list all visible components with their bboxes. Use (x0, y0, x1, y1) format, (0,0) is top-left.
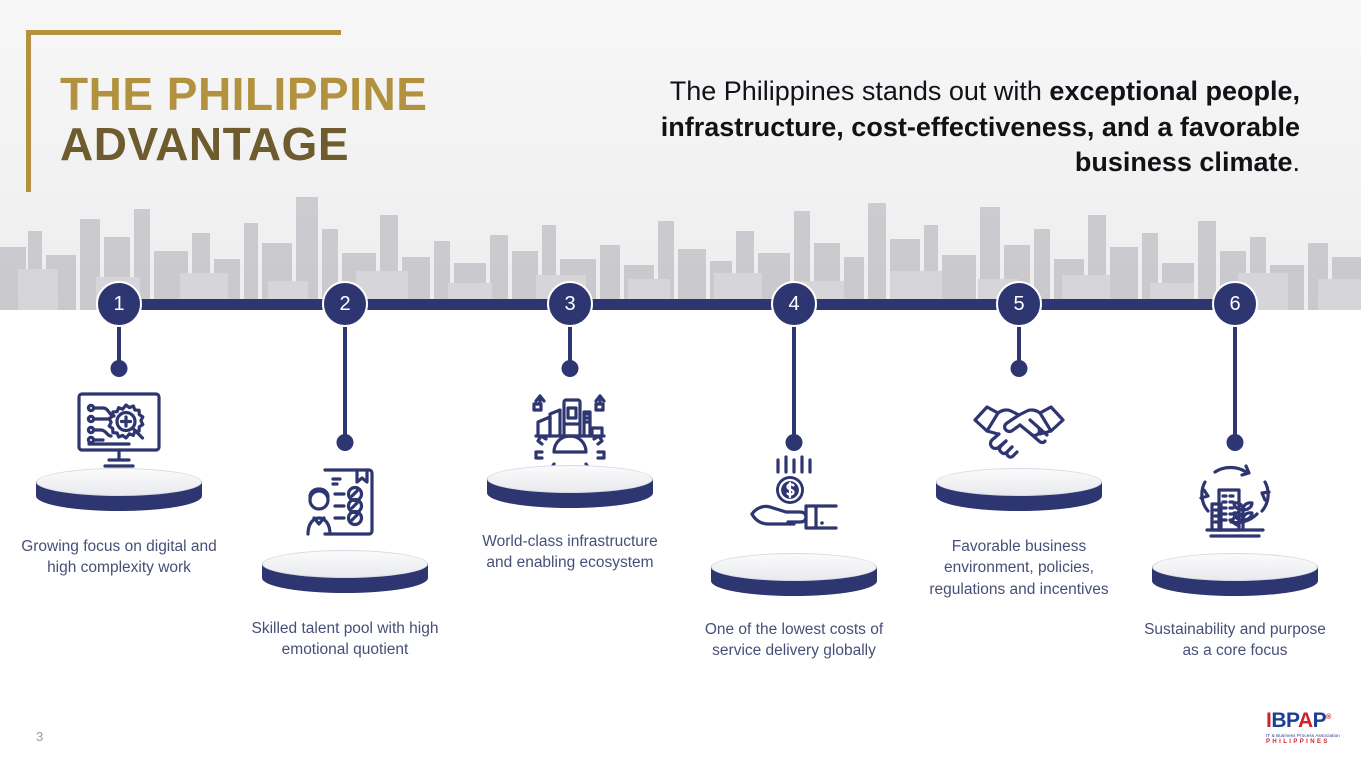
step-number-badge-1[interactable]: 1 (96, 281, 142, 327)
title-line-1: THE PHILIPPINE (60, 70, 580, 120)
registered-trademark-icon: ® (1326, 714, 1331, 721)
headline-lead: The Philippines stands out with (670, 76, 1050, 106)
headline-statement: The Philippines stands out with exceptio… (590, 74, 1300, 181)
step-number-label: 3 (564, 293, 575, 316)
pedestal-top (711, 553, 877, 581)
talent-checklist-icon (289, 452, 401, 552)
title-line-2: ADVANTAGE (60, 120, 580, 170)
ibpap-logo: IBPAP® IT & Business Process Association… (1266, 710, 1352, 746)
pedestal-top (936, 468, 1102, 496)
step-number-label: 1 (113, 293, 124, 316)
logo-letter-a: A (1298, 709, 1313, 732)
step-connector-dot (1011, 360, 1028, 377)
step-number-badge-2[interactable]: 2 (322, 281, 368, 327)
step-connector-line (568, 322, 572, 364)
step-pedestal (1152, 553, 1318, 609)
factory-gear-icon (514, 378, 626, 478)
step-number-badge-3[interactable]: 3 (547, 281, 593, 327)
step-number-badge-5[interactable]: 5 (996, 281, 1042, 327)
pedestal-top (262, 550, 428, 578)
step-connector-line (1233, 322, 1237, 438)
step-number-label: 5 (1013, 293, 1024, 316)
step-caption: Favorable business environment, policies… (919, 536, 1119, 600)
step-number-label: 2 (339, 293, 350, 316)
step-connector-line (792, 322, 796, 438)
logo-country: PHILIPPINES (1266, 739, 1352, 746)
pedestal-top (36, 468, 202, 496)
step-pedestal (936, 468, 1102, 524)
handshake-icon (963, 378, 1075, 478)
city-skyline-image (0, 185, 1361, 310)
page-title: THE PHILIPPINE ADVANTAGE (60, 70, 580, 169)
sustainability-building-icon (1179, 452, 1291, 552)
step-caption: World-class infrastructure and enabling … (470, 531, 670, 574)
step-connector-dot (562, 360, 579, 377)
computer-analytics-icon (63, 378, 175, 478)
headline-tail: . (1292, 147, 1300, 177)
step-pedestal (262, 550, 428, 606)
step-caption: Sustainability and purpose as a core foc… (1135, 619, 1335, 662)
step-caption: Skilled talent pool with high emotional … (245, 618, 445, 661)
pedestal-top (1152, 553, 1318, 581)
step-connector-line (117, 322, 121, 364)
logo-subtitle: IT & Business Process Association (1266, 733, 1352, 738)
step-connector-dot (1227, 434, 1244, 451)
step-number-badge-6[interactable]: 6 (1212, 281, 1258, 327)
logo-wordmark: IBPAP® (1266, 710, 1331, 731)
step-number-label: 4 (788, 293, 799, 316)
logo-letter-p: P (1313, 709, 1327, 732)
step-caption: Growing focus on digital and high comple… (19, 536, 219, 579)
timeline-bar (119, 299, 1236, 310)
step-number-badge-4[interactable]: 4 (771, 281, 817, 327)
step-connector-dot (786, 434, 803, 451)
page-number: 3 (36, 729, 43, 744)
step-connector-dot (337, 434, 354, 451)
hand-coin-icon (738, 452, 850, 552)
pedestal-top (487, 465, 653, 493)
step-pedestal (36, 468, 202, 524)
step-connector-line (1017, 322, 1021, 364)
step-connector-dot (111, 360, 128, 377)
step-connector-line (343, 322, 347, 438)
step-pedestal (487, 465, 653, 521)
logo-letters-bp: BP (1271, 709, 1298, 732)
step-number-label: 6 (1229, 293, 1240, 316)
step-pedestal (711, 553, 877, 609)
step-caption: One of the lowest costs of service deliv… (694, 619, 894, 662)
